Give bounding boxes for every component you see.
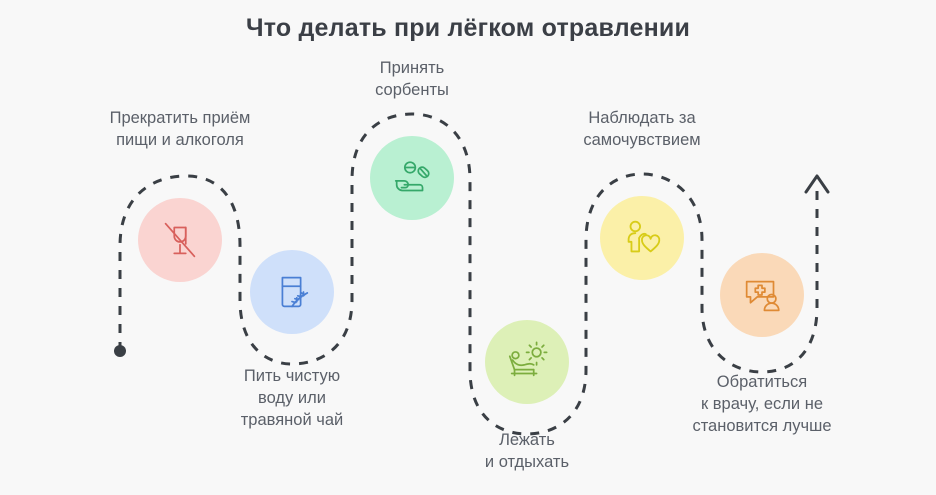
step-6-label: Обратиться к врачу, если не становится л… [622, 372, 902, 437]
no-alcohol-glass-icon [157, 217, 203, 263]
page-title: Что делать при лёгком отравлении [0, 14, 936, 43]
step-1-label: Прекратить приём пищи и алкоголя [50, 108, 310, 152]
step-5-circle[interactable] [600, 196, 684, 280]
step-3-label: Принять сорбенты [302, 58, 522, 102]
infographic-canvas: Что делать при лёгком отравлении Прекрат… [0, 0, 936, 495]
doctor-consultation-icon [739, 272, 785, 318]
person-resting-sun-icon [504, 339, 550, 385]
step-4-circle[interactable] [485, 320, 569, 404]
step-3-circle[interactable] [370, 136, 454, 220]
person-with-heart-icon [619, 215, 665, 261]
hand-with-pills-icon [389, 155, 435, 201]
step-1-circle[interactable] [138, 198, 222, 282]
step-2-circle[interactable] [250, 250, 334, 334]
step-6-circle[interactable] [720, 253, 804, 337]
step-5-label: Наблюдать за самочувствием [517, 108, 767, 152]
water-glass-herb-icon [269, 269, 315, 315]
step-2-label: Пить чистую воду или травяной чай [177, 366, 407, 431]
path-arrow-head [806, 176, 828, 192]
path-start-dot [114, 345, 126, 357]
step-4-label: Лежать и отдыхать [412, 430, 642, 474]
